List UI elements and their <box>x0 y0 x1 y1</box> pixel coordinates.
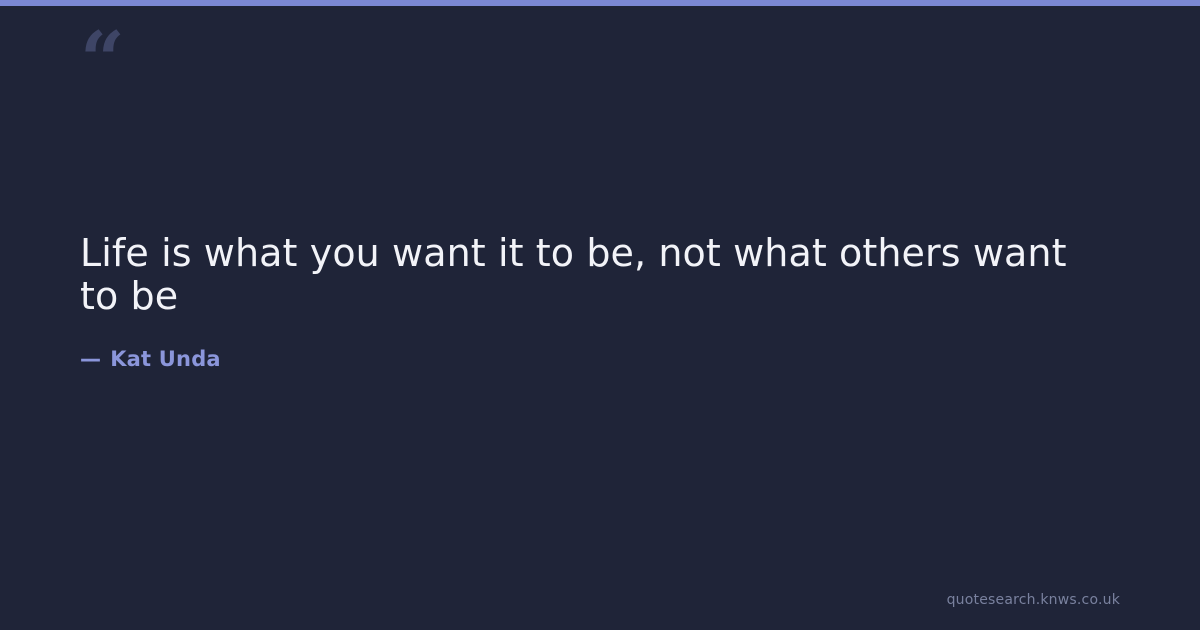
quotation-mark-icon: “ <box>80 22 125 100</box>
quote-text: Life is what you want it to be, not what… <box>80 232 1100 317</box>
quote-card: “ Life is what you want it to be, not wh… <box>0 0 1200 630</box>
attribution-author: Kat Unda <box>110 347 221 371</box>
source-url: quotesearch.knws.co.uk <box>947 592 1120 608</box>
top-accent-bar <box>0 0 1200 6</box>
quote-attribution: — Kat Unda <box>80 347 1100 371</box>
attribution-dash: — <box>80 347 101 371</box>
quote-content: Life is what you want it to be, not what… <box>80 232 1100 371</box>
